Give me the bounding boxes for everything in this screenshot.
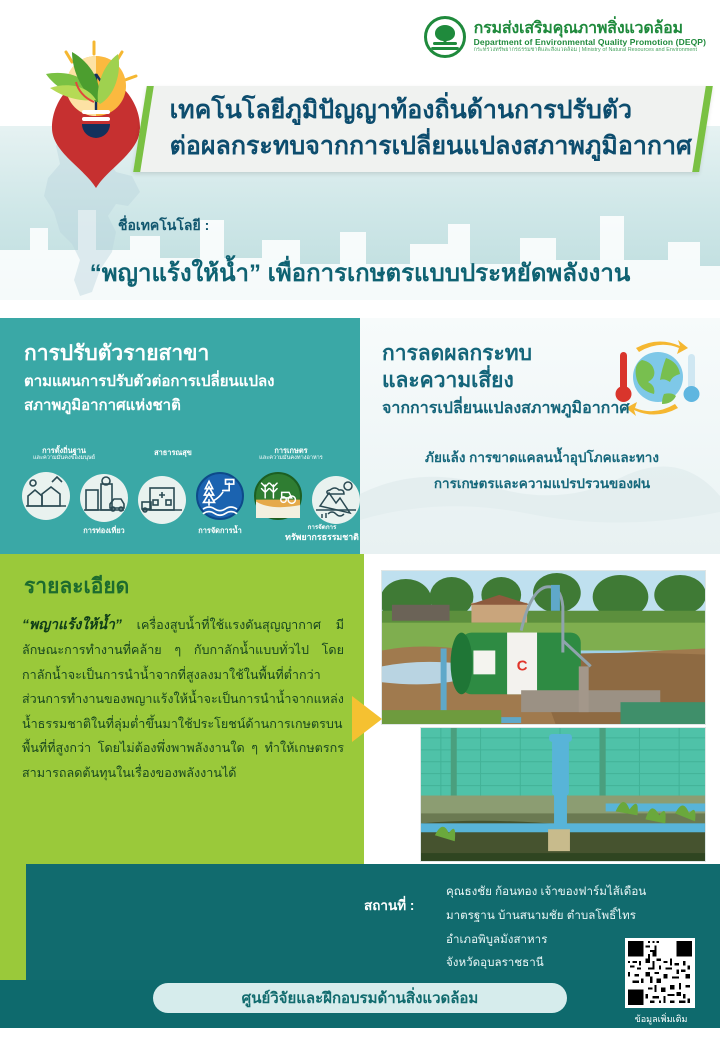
natural-resources-mountain-icon [312, 476, 360, 524]
settlement-houses-icon [22, 472, 70, 520]
footer-pill: ศูนย์วิจัยและฝึกอบรมด้านสิ่งแวดล้อม [153, 983, 567, 1013]
location-line-4: จังหวัดอุบลราชธานี [446, 951, 636, 975]
org-name-th: กรมส่งเสริมคุณภาพสิ่งแวดล้อม [474, 20, 706, 37]
adaptation-subheading-1: ตามแผนการปรับตัวต่อการเปลี่ยนแปลง [24, 370, 342, 393]
photo-barrel-vacuum-pump-at-pond-icon: C [382, 571, 705, 725]
mitigation-body-1: ภัยแล้ง การขาดแคลนน้ำอุปโภคและทาง [390, 445, 694, 471]
location-bar: สถานที่ : คุณธงชัย ก้อนทอง เจ้าของฟาร์มไ… [26, 864, 720, 980]
photo-blue-pvc-pipes-green-netting-icon [421, 728, 705, 862]
water-management-tap-icon [198, 474, 242, 518]
adaptation-subheading-2: สภาพภูมิอากาศแห่งชาติ [24, 394, 342, 417]
org-name-en: Department of Environmental Quality Prom… [474, 37, 706, 48]
tourism-city-car-icon [80, 474, 128, 522]
sector-caption-water: การจัดการน้ำ [170, 526, 270, 535]
details-text: เครื่องสูบน้ำที่ใช้แรงดันสุญญากาศ มีลักษ… [22, 618, 344, 780]
title-line-2: ต่อผลกระทบจากการเปลี่ยนแปลงสภาพภูมิอากาศ [170, 129, 700, 165]
sector-icon-agriculture[interactable] [254, 472, 302, 520]
sector-caption-settlement: การตั้งถิ่นฐาน และความมั่นคงของมนุษย์ [14, 446, 114, 462]
poster-root: กรมส่งเสริมคุณภาพสิ่งแวดล้อม Department … [0, 0, 720, 1040]
right-arrow-marker-icon [352, 696, 382, 742]
main-title-ribbon: เทคโนโลยีภูมิปัญญาท้องถิ่นด้านการปรับตัว… [133, 86, 713, 172]
mitigation-body-2: การเกษตรและความแปรปรวนของฝน [390, 471, 694, 497]
location-label: สถานที่ : [364, 894, 414, 916]
sector-icon-row: การตั้งถิ่นฐาน และความมั่นคงของมนุษย์ สา… [8, 446, 360, 552]
panels-row: การปรับตัวรายสาขา ตามแผนการปรับตัวต่อการ… [0, 318, 720, 554]
agriculture-field-icon [256, 474, 300, 518]
qr-code-icon[interactable] [625, 938, 695, 1008]
sector-icon-settlement[interactable] [22, 472, 70, 520]
qr-caption: ข้อมูลเพิ่มเติม [618, 1012, 704, 1026]
sector-icon-natural-resources[interactable] [312, 476, 360, 524]
green-accent-strip [0, 864, 26, 980]
adaptation-heading: การปรับตัวรายสาขา [24, 340, 342, 367]
mitigation-subheading: จากการเปลี่ยนแปลงสภาพภูมิอากาศ [382, 397, 702, 421]
mitigation-panel: การลดผลกระทบ และความเสี่ยง จากการเปลี่ยน… [360, 318, 720, 554]
details-heading: รายละเอียด [0, 554, 364, 609]
location-line-3: อำเภอพิบูลมังสาหาร [446, 928, 636, 952]
poster-header: กรมส่งเสริมคุณภาพสิ่งแวดล้อม Department … [0, 0, 720, 300]
details-paragraph: “พญาแร้งให้น้ำ” เครื่องสูบน้ำที่ใช้แรงดั… [22, 611, 344, 786]
footer-text: ศูนย์วิจัยและฝึกอบรมด้านสิ่งแวดล้อม [242, 986, 479, 1010]
title-line-1: เทคโนโลยีภูมิปัญญาท้องถิ่นด้านการปรับตัว [170, 93, 700, 129]
technology-name-value: “พญาแร้งให้น้ำ” เพื่อการเกษตรแบบประหยัดพ… [0, 253, 720, 292]
location-line-2: มาตรฐาน บ้านสนามชัย ตำบลโพธิ์ไทร [446, 904, 636, 928]
sector-caption-health: สาธารณสุข [128, 448, 218, 457]
photo-pipes [420, 727, 706, 862]
deqp-logo: กรมส่งเสริมคุณภาพสิ่งแวดล้อม Department … [424, 16, 706, 58]
deqp-emblem-icon [424, 16, 466, 58]
mitigation-heading-2: และความเสี่ยง [382, 367, 702, 394]
qr-code-matrix [628, 941, 692, 1005]
sector-icon-public-health[interactable] [138, 476, 186, 524]
sector-icon-water-management[interactable] [196, 472, 244, 520]
details-panel: รายละเอียด “พญาแร้งให้น้ำ” เครื่องสูบน้ำ… [0, 554, 364, 864]
location-address: คุณธงชัย ก้อนทอง เจ้าของฟาร์มไส้เดือน มา… [446, 880, 636, 975]
public-health-hospital-icon [138, 476, 186, 524]
mitigation-heading-1: การลดผลกระทบ [382, 340, 702, 367]
location-line-1: คุณธงชัย ก้อนทอง เจ้าของฟาร์มไส้เดือน [446, 880, 636, 904]
photo-barrel-pump: C [381, 570, 706, 725]
adaptation-panel: การปรับตัวรายสาขา ตามแผนการปรับตัวต่อการ… [0, 318, 360, 554]
technology-name-label: ชื่อเทคโนโลยี : [118, 215, 209, 237]
svg-text:C: C [517, 658, 528, 674]
sector-caption-tourism: การท่องเที่ยว [54, 526, 154, 535]
sector-icon-tourism[interactable] [80, 474, 128, 522]
sector-caption-agriculture: การเกษตร และความมั่นคงทางอาหาร [236, 446, 346, 462]
sector-caption-natural-resources: การจัดการ ทรัพยากรธรรมชาติ [276, 522, 368, 543]
details-quote: “พญาแร้งให้น้ำ” [22, 616, 122, 632]
org-ministry: กระทรวงทรัพยากรธรรมชาติและสิ่งแวดล้อม | … [474, 47, 706, 54]
